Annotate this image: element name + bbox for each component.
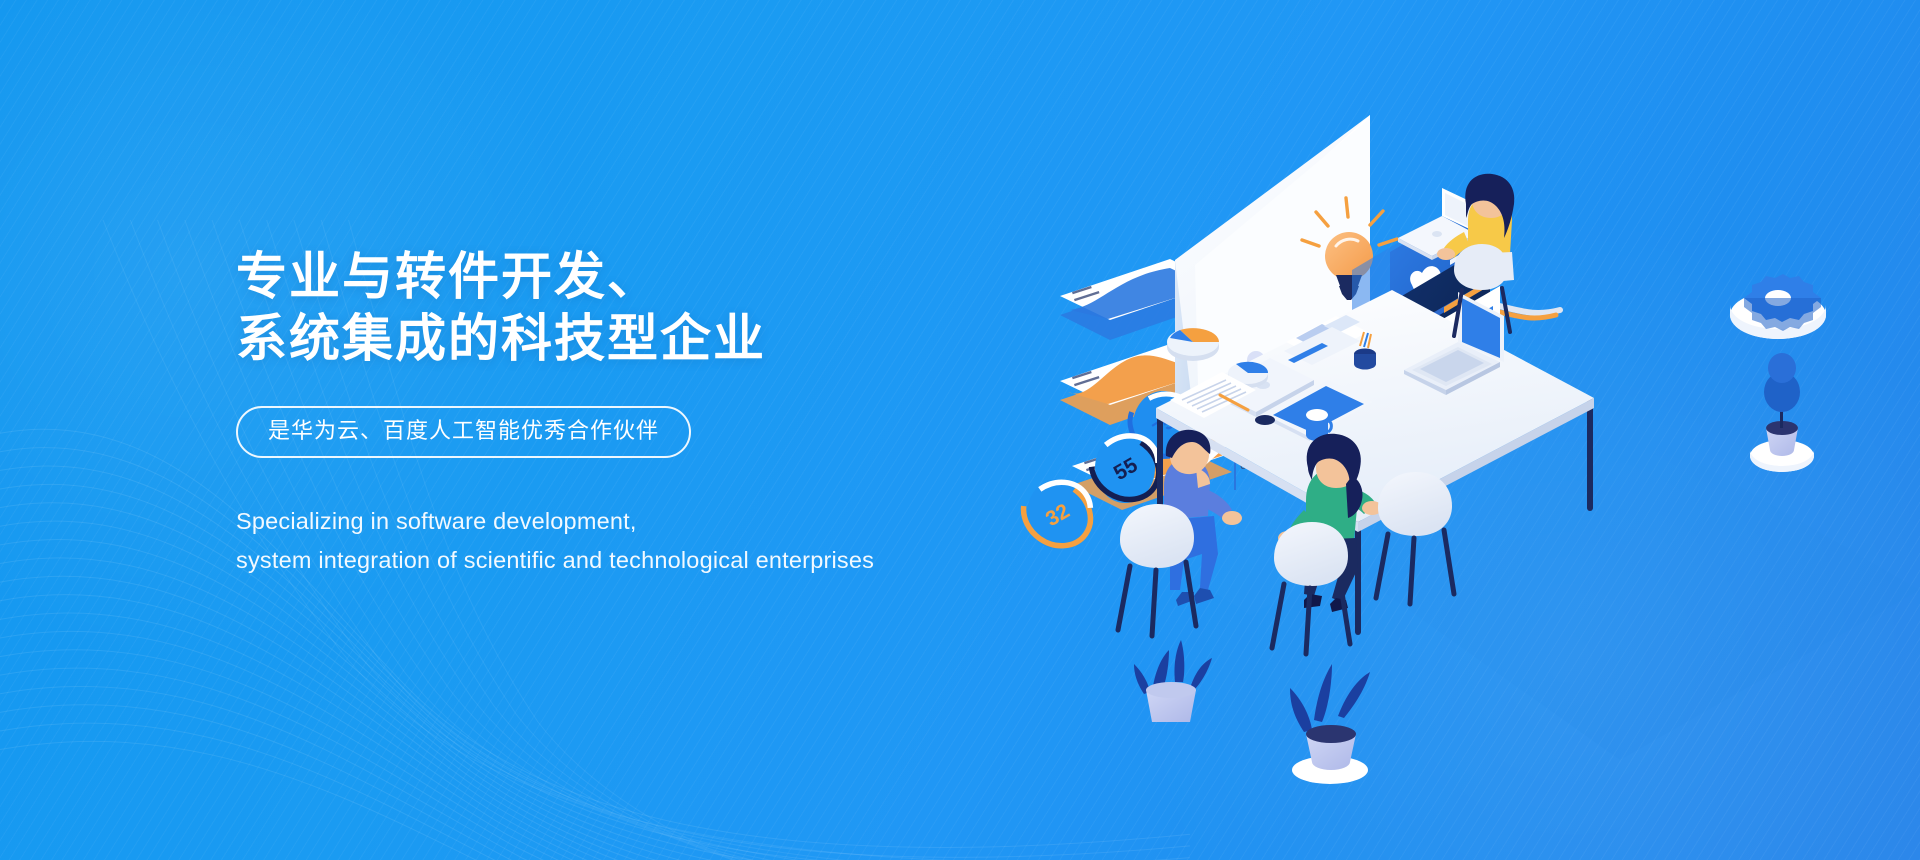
headline-line-2: 系统集成的科技型企业 bbox=[236, 308, 1136, 370]
plant-left bbox=[1134, 640, 1212, 722]
pie-chart-large bbox=[1167, 328, 1219, 361]
subtitle-line-1: Specializing in software development, bbox=[236, 502, 1136, 541]
headline-line-1: 专业与转件开发、 bbox=[236, 246, 1136, 308]
mouse-icon bbox=[1255, 415, 1275, 425]
hero-copy: 专业与转件开发、 系统集成的科技型企业 是华为云、百度人工智能优秀合作伙伴 Sp… bbox=[236, 246, 1136, 580]
hero-illustration: 65 123 97 81 bbox=[1060, 70, 1920, 770]
plant-bottom bbox=[1290, 664, 1370, 784]
page-title: 专业与转件开发、 系统集成的科技型企业 bbox=[236, 246, 1136, 370]
gear-pedestal bbox=[1730, 274, 1826, 339]
subtitle-line-2: system integration of scientific and tec… bbox=[236, 541, 1136, 580]
partner-badge[interactable]: 是华为云、百度人工智能优秀合作伙伴 bbox=[236, 406, 691, 458]
hero-banner: 专业与转件开发、 系统集成的科技型企业 是华为云、百度人工智能优秀合作伙伴 Sp… bbox=[0, 0, 1920, 860]
topiary-plant bbox=[1750, 353, 1814, 472]
subtitle: Specializing in software development, sy… bbox=[236, 502, 1136, 580]
